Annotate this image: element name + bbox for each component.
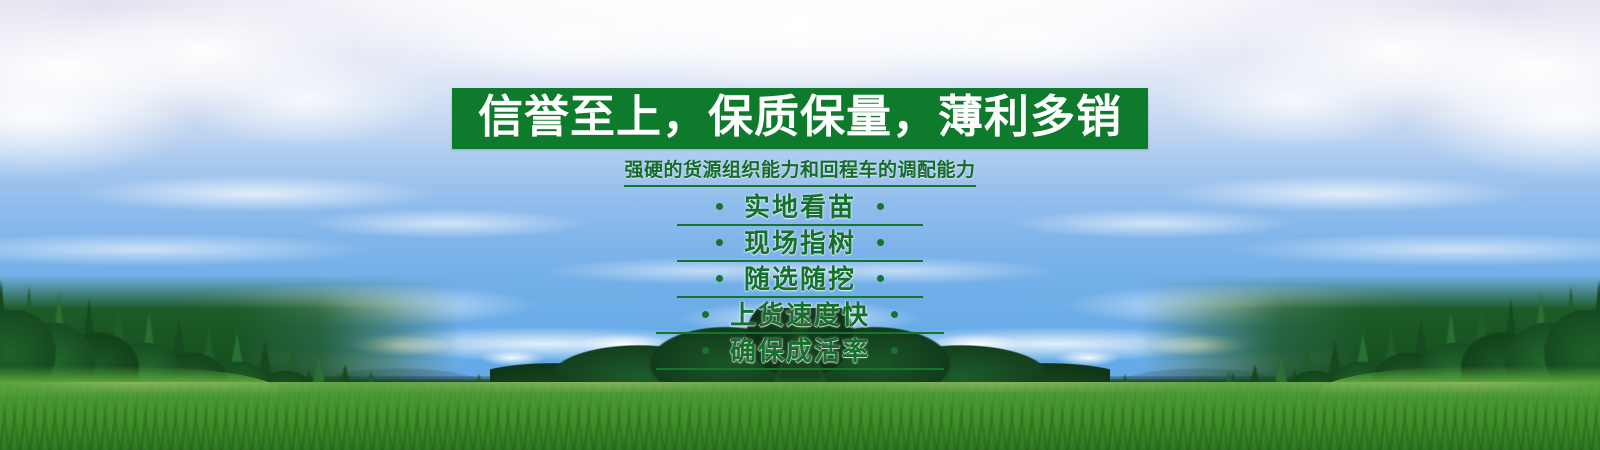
headline-bar: 信誉至上，保质保量，薄利多销 xyxy=(452,88,1148,149)
feature-item: 现场指树 xyxy=(677,231,923,262)
bullet-dot-icon xyxy=(716,275,723,282)
bullet-dot-icon xyxy=(716,203,723,210)
feature-label: 实地看苗 xyxy=(744,195,856,221)
feature-item: 实地看苗 xyxy=(677,195,923,226)
promo-banner: 信誉至上，保质保量，薄利多销 强硬的货源组织能力和回程车的调配能力 实地看苗 现… xyxy=(0,0,1600,450)
subtitle-wrap: 强硬的货源组织能力和回程车的调配能力 xyxy=(0,155,1600,187)
bullet-dot-icon xyxy=(702,311,709,318)
feature-item: 确保成活率 xyxy=(656,339,944,370)
bullet-dot-icon xyxy=(891,311,898,318)
crop-field xyxy=(0,382,1600,450)
feature-label: 随选随挖 xyxy=(744,267,856,293)
banner-content: 信誉至上，保质保量，薄利多销 强硬的货源组织能力和回程车的调配能力 实地看苗 现… xyxy=(0,0,1600,386)
crop-rows-right xyxy=(0,382,1600,450)
subtitle-text: 强硬的货源组织能力和回程车的调配能力 xyxy=(624,155,975,187)
feature-label: 上货速度快 xyxy=(730,303,870,329)
bullet-dot-icon xyxy=(877,203,884,210)
bullet-dot-icon xyxy=(891,347,898,354)
feature-label: 确保成活率 xyxy=(730,339,870,365)
bullet-dot-icon xyxy=(877,239,884,246)
feature-label: 现场指树 xyxy=(744,231,856,257)
feature-item: 上货速度快 xyxy=(656,303,944,334)
bullet-dot-icon xyxy=(702,347,709,354)
headline-text: 信誉至上，保质保量，薄利多销 xyxy=(478,94,1122,139)
bullet-dot-icon xyxy=(877,275,884,282)
feature-item: 随选随挖 xyxy=(677,267,923,298)
feature-list: 实地看苗 现场指树 随选随挖 上货速度快 确保成活率 xyxy=(0,195,1600,370)
bullet-dot-icon xyxy=(716,239,723,246)
